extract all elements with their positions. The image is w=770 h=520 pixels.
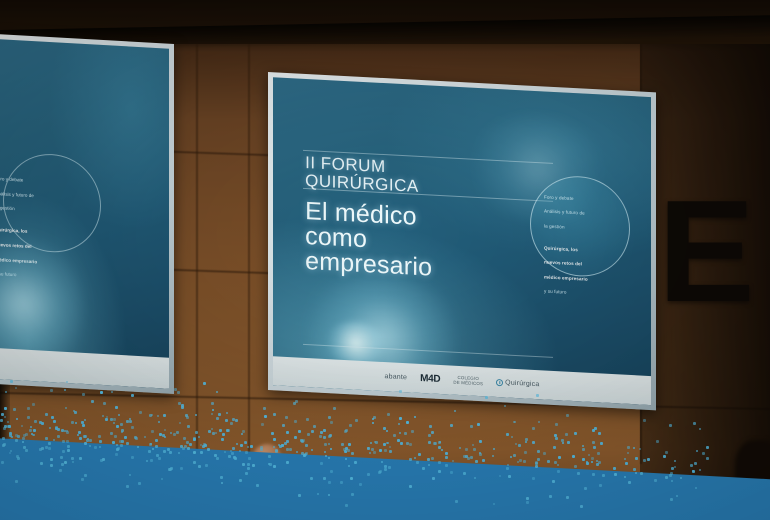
presentation-slide: II FORUM QUIRÚRGICA El médico como empre…	[273, 77, 651, 405]
badge-line-1: Foro y debate	[0, 176, 23, 183]
badge-line-3: la gestión	[0, 205, 15, 211]
badge-line-5: nuevos retos del	[544, 259, 582, 266]
slide-headline: El médico como empresario	[305, 199, 432, 281]
quirurgica-mark-icon	[496, 379, 503, 386]
badge-line-6: médico empresario	[544, 274, 588, 281]
wall-seam-vertical	[196, 44, 198, 464]
wall-signage-letter: E	[658, 195, 751, 308]
logo-bar-left	[0, 349, 169, 389]
slide-badge-circle: Foro y debate Análisis y futuro de la ge…	[530, 174, 630, 279]
screen-canvas-main: II FORUM QUIRÚRGICA El médico como empre…	[273, 77, 651, 405]
slide-left: Foro y debate Análisis y futuro de la ge…	[0, 39, 169, 389]
slide-divider-bottom	[303, 344, 552, 358]
badge-line-4: Quirúrgica, los	[544, 245, 578, 252]
logo-colegio-line2: DE MÉDICOS	[453, 380, 483, 387]
screen-canvas-left: Foro y debate Análisis y futuro de la ge…	[0, 39, 169, 389]
logo-quirurgica-label: Quirúrgica	[505, 379, 539, 388]
badge-line-1: Foro y debate	[544, 194, 574, 201]
slide-kicker: II FORUM QUIRÚRGICA	[305, 154, 419, 195]
logo-colegio-medicos: COLEGIO DE MÉDICOS	[453, 375, 483, 388]
photo-scene: Foro y debate Análisis y futuro de la ge…	[0, 0, 770, 520]
badge-line-7: y su futuro	[0, 271, 16, 277]
badge-line-4: Quirúrgica, los	[0, 227, 27, 234]
projection-screen-left: Foro y debate Análisis y futuro de la ge…	[0, 34, 174, 394]
badge-line-3: la gestión	[544, 223, 565, 229]
slide-badge-text: Foro y debate Análisis y futuro de la ge…	[544, 193, 618, 298]
wall-seam-vertical	[248, 44, 250, 464]
badge-line-6: médico empresario	[0, 257, 37, 264]
badge-text-left: Foro y debate Análisis y futuro de la ge…	[0, 175, 65, 282]
projection-screen-main: II FORUM QUIRÚRGICA El médico como empre…	[268, 72, 656, 410]
badge-line-5: nuevos retos del	[0, 242, 32, 249]
badge-line-2: Análisis y futuro de	[0, 191, 34, 198]
badge-line-2: Análisis y futuro de	[544, 209, 585, 216]
logo-quirurgica: Quirúrgica	[496, 379, 539, 388]
screen-frame-main: II FORUM QUIRÚRGICA El médico como empre…	[268, 72, 656, 410]
logo-m4d: M4D	[420, 373, 440, 385]
screen-frame-left: Foro y debate Análisis y futuro de la ge…	[0, 34, 174, 394]
badge-line-7: y su futuro	[544, 288, 567, 294]
logo-abante: abante	[385, 373, 408, 381]
